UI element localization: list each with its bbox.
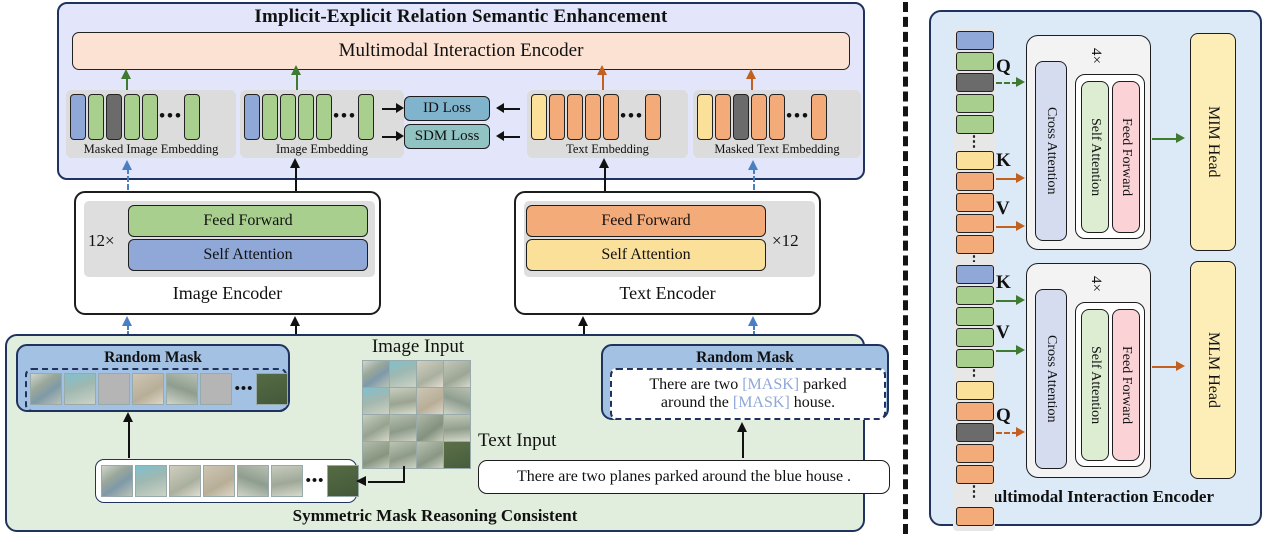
mim-feed-forward-label: Feed Forward xyxy=(1113,82,1139,232)
multimodal-interaction-encoder-bar: Multimodal Interaction Encoder xyxy=(72,32,850,70)
mim-head-label: MIM Head xyxy=(1191,34,1235,250)
sdm-loss-box: SDM Loss xyxy=(404,124,490,149)
arrow-head-up xyxy=(737,422,747,432)
arrow-line-orange xyxy=(996,226,1018,228)
text-encoder-caption: Text Encoder xyxy=(516,283,819,304)
arrow-line-green xyxy=(996,82,1018,84)
token-orange xyxy=(645,94,661,140)
token-blue xyxy=(956,265,994,284)
token-orange xyxy=(956,172,994,191)
mim-head-box: MIM Head xyxy=(1190,33,1236,251)
mlm-head-label: MLM Head xyxy=(1191,262,1235,478)
token-blue xyxy=(70,94,86,140)
masked-text-pre: around the xyxy=(661,394,733,411)
arrow-head-up xyxy=(122,316,132,326)
image-random-mask-title: Random Mask xyxy=(18,349,288,367)
arrow-head-up xyxy=(746,69,756,79)
arrow-line-green xyxy=(126,78,128,90)
image-patch xyxy=(443,414,471,442)
masked-text-line-2: around the [MASK] house. xyxy=(661,394,835,412)
image-feed-forward-block: Feed Forward xyxy=(128,205,368,237)
image-patch xyxy=(416,360,444,388)
mlm-self-attention-block: Self Attention xyxy=(1081,309,1109,461)
token-orange xyxy=(715,94,731,140)
text-self-attention-label: Self Attention xyxy=(601,246,690,264)
token-row: ••• xyxy=(697,94,827,140)
ellipsis: ••• xyxy=(787,94,809,138)
label-v: V xyxy=(996,198,1010,220)
masked-text-embedding-group: ••• Masked Text Embedding xyxy=(693,90,861,158)
token-green xyxy=(956,52,994,71)
id-loss-box: ID Loss xyxy=(404,96,490,121)
arrow-head-right xyxy=(1016,173,1025,183)
image-patch xyxy=(443,387,471,415)
token-blue xyxy=(956,31,994,50)
mim-self-attention-label: Self Attention xyxy=(1082,82,1108,232)
token-green xyxy=(358,94,374,140)
image-patch xyxy=(389,387,417,415)
arrow-line-orange xyxy=(602,74,604,90)
token-green xyxy=(280,94,296,140)
arrow-head-up xyxy=(599,158,609,168)
text-encoder-box: Feed Forward Self Attention ×12 Text Enc… xyxy=(514,191,821,315)
image-patch-masked xyxy=(200,373,232,405)
image-patch xyxy=(166,373,198,405)
image-patch xyxy=(135,465,167,497)
token-row: ••• xyxy=(70,94,200,140)
mim-ffn-group: Self Attention Feed Forward xyxy=(1075,74,1145,239)
token-row: ••• xyxy=(531,94,661,140)
token-yellow xyxy=(697,94,713,140)
mlm-feed-forward-label: Feed Forward xyxy=(1113,310,1139,460)
arrow-head-right xyxy=(1016,295,1025,305)
token-green xyxy=(316,94,332,140)
embedding-caption: Masked Text Embedding xyxy=(693,142,861,157)
token-green xyxy=(956,307,994,326)
image-embedding-group: ••• Image Embedding xyxy=(240,90,404,158)
image-patch xyxy=(203,465,235,497)
arrow-line-green xyxy=(996,300,1018,302)
arrow-head-up xyxy=(290,316,300,326)
token-orange xyxy=(956,507,994,526)
mlm-self-attention-label: Self Attention xyxy=(1082,310,1108,460)
panel-divider xyxy=(903,2,908,534)
mim-cross-attention-label: Cross Attention xyxy=(1036,62,1066,240)
masked-text-pre: There are two xyxy=(649,376,742,393)
token-orange xyxy=(956,193,994,212)
ellipsis: ••• xyxy=(234,381,254,398)
image-patch xyxy=(389,441,417,469)
mim-feed-forward-block: Feed Forward xyxy=(1112,81,1140,233)
arrow-head-left xyxy=(496,131,504,141)
mim-block-container: Cross Attention 4× Self Attention Feed F… xyxy=(1026,35,1151,250)
arrow-line xyxy=(742,430,744,458)
image-patch xyxy=(30,373,62,405)
image-patch xyxy=(327,465,359,497)
image-patch-masked xyxy=(98,373,130,405)
arrow-head-up xyxy=(123,412,133,422)
mask-token: [MASK] xyxy=(733,394,790,411)
image-patch xyxy=(362,414,390,442)
mie-bar-label: Multimodal Interaction Encoder xyxy=(339,40,584,62)
token-orange xyxy=(956,465,994,484)
arrow-line-orange xyxy=(996,178,1018,180)
embedding-caption: Image Embedding xyxy=(240,142,404,157)
text-encoder-repeat: ×12 xyxy=(772,231,818,251)
image-encoder-repeat: 12× xyxy=(88,231,128,251)
image-patch xyxy=(362,360,390,388)
token-green xyxy=(88,94,104,140)
image-self-attention-label: Self Attention xyxy=(203,246,292,264)
token-orange xyxy=(567,94,583,140)
mlm-feed-forward-block: Feed Forward xyxy=(1112,309,1140,461)
token-green xyxy=(298,94,314,140)
arrow-head-right xyxy=(1176,133,1185,143)
text-feed-forward-block: Feed Forward xyxy=(526,205,766,237)
ellipsis: ⋮ xyxy=(956,486,992,505)
label-q: Q xyxy=(996,56,1011,78)
sdm-loss-label: SDM Loss xyxy=(415,128,480,145)
arrow-line-orange xyxy=(1152,366,1178,368)
token-green xyxy=(956,328,994,347)
token-masked xyxy=(106,94,122,140)
arrow-line-orange xyxy=(996,432,1018,434)
token-blue xyxy=(244,94,260,140)
masked-patch-container: ••• xyxy=(25,368,287,412)
token-green xyxy=(956,94,994,113)
arrow-line-green xyxy=(1152,138,1178,140)
mlm-cross-attention-label: Cross Attention xyxy=(1036,290,1066,468)
arrow-line xyxy=(128,420,130,458)
token-orange xyxy=(585,94,601,140)
image-patch-strip-box: ••• xyxy=(95,459,357,503)
arrow-head-right xyxy=(1016,427,1025,437)
image-encoder-caption: Image Encoder xyxy=(76,283,379,304)
mlm-ffn-group: Self Attention Feed Forward xyxy=(1075,302,1145,467)
ellipsis: ••• xyxy=(621,94,643,138)
arrow-head-up xyxy=(748,160,758,170)
arrow-head-up xyxy=(291,65,301,75)
text-input-value: There are two planes parked around the b… xyxy=(517,468,851,486)
token-orange xyxy=(751,94,767,140)
mlm-head-box: MLM Head xyxy=(1190,261,1236,479)
token-yellow xyxy=(531,94,547,140)
arrow-head-up xyxy=(121,69,131,79)
mim-repeat-label: 4× xyxy=(1087,48,1104,73)
image-patch xyxy=(416,414,444,442)
token-green xyxy=(124,94,140,140)
text-embedding-group: ••• Text Embedding xyxy=(527,90,688,158)
token-green xyxy=(956,115,994,134)
token-yellow xyxy=(956,381,994,400)
image-patch xyxy=(443,441,471,469)
arrow-head-up xyxy=(597,65,607,75)
mim-self-attention-block: Self Attention xyxy=(1081,81,1109,233)
token-green xyxy=(956,286,994,305)
image-random-mask-box: Random Mask ••• xyxy=(16,344,290,412)
image-patch xyxy=(362,387,390,415)
arrow-head-right xyxy=(1176,361,1185,371)
image-patch xyxy=(256,373,288,405)
image-patch xyxy=(237,465,269,497)
mlm-cross-attention-block: Cross Attention xyxy=(1035,289,1067,469)
arrow-head-up xyxy=(290,158,300,168)
mlm-repeat-label: 4× xyxy=(1087,276,1104,301)
arrow-head-up xyxy=(748,316,758,326)
image-patch xyxy=(271,465,303,497)
id-loss-label: ID Loss xyxy=(423,100,471,117)
label-q: Q xyxy=(996,405,1011,427)
mim-cross-attention-block: Cross Attention xyxy=(1035,61,1067,241)
token-orange xyxy=(603,94,619,140)
label-v: V xyxy=(996,322,1010,344)
embedding-caption: Text Embedding xyxy=(527,142,688,157)
ellipsis: ••• xyxy=(305,473,325,490)
image-encoder-box: 12× Feed Forward Self Attention Image En… xyxy=(74,191,381,315)
image-patch xyxy=(443,360,471,388)
arrow-head-left xyxy=(356,476,366,486)
symmetric-mask-title: Symmetric Mask Reasoning Consistent xyxy=(5,506,865,528)
arrow-line-dashed xyxy=(753,168,755,190)
masked-text-post: house. xyxy=(790,394,835,411)
token-green xyxy=(184,94,200,140)
image-input-grid xyxy=(362,360,470,466)
token-green xyxy=(956,349,994,368)
label-k: K xyxy=(996,272,1011,294)
image-self-attention-block: Self Attention xyxy=(128,239,368,271)
arrow-line-orange xyxy=(751,78,753,90)
arrow-head-right xyxy=(1016,221,1025,231)
arrow-line-green xyxy=(996,350,1018,352)
image-patch xyxy=(416,387,444,415)
token-green xyxy=(142,94,158,140)
masked-text-line-1: There are two [MASK] parked xyxy=(649,376,846,394)
mask-token: [MASK] xyxy=(742,376,799,393)
image-patch xyxy=(389,360,417,388)
arrow-line-dashed xyxy=(127,168,129,190)
token-masked xyxy=(956,73,994,92)
masked-text-post: parked xyxy=(799,376,847,393)
masked-text-container: There are two [MASK] parked around the [… xyxy=(610,368,886,420)
token-orange xyxy=(956,402,994,421)
text-random-mask-box: Random Mask There are two [MASK] parked … xyxy=(601,344,889,420)
image-feed-forward-label: Feed Forward xyxy=(203,212,292,230)
image-patch xyxy=(169,465,201,497)
token-orange xyxy=(549,94,565,140)
arrow-line xyxy=(368,481,405,483)
ellipsis: ••• xyxy=(334,94,356,138)
token-row: ••• xyxy=(244,94,374,140)
mlm-query-token-column: ⋮ xyxy=(953,378,995,531)
text-input-box[interactable]: There are two planes parked around the b… xyxy=(478,460,890,494)
label-k: K xyxy=(996,150,1011,172)
arrow-head-left xyxy=(496,103,504,113)
text-feed-forward-label: Feed Forward xyxy=(601,212,690,230)
token-green xyxy=(262,94,278,140)
image-patch xyxy=(389,414,417,442)
masked-image-embedding-group: ••• Masked Image Embedding xyxy=(66,90,236,158)
text-self-attention-block: Self Attention xyxy=(526,239,766,271)
token-masked xyxy=(733,94,749,140)
image-patch xyxy=(416,441,444,469)
arrow-head-right xyxy=(1016,77,1025,87)
arrow-head-right xyxy=(1016,345,1025,355)
token-orange xyxy=(811,94,827,140)
text-random-mask-title: Random Mask xyxy=(603,349,887,367)
image-patch xyxy=(132,373,164,405)
arrow-head-right xyxy=(396,103,404,113)
image-input-label: Image Input xyxy=(338,336,498,358)
image-patch xyxy=(64,373,96,405)
image-patch xyxy=(362,441,390,469)
arrow-line-green xyxy=(296,74,298,90)
image-patch xyxy=(101,465,133,497)
token-masked xyxy=(956,423,994,442)
token-orange xyxy=(956,444,994,463)
arrow-head-right xyxy=(396,131,404,141)
embedding-caption: Masked Image Embedding xyxy=(66,142,236,157)
token-orange xyxy=(769,94,785,140)
token-orange xyxy=(956,235,994,254)
text-input-label: Text Input xyxy=(478,430,588,452)
ellipsis: ••• xyxy=(160,94,182,138)
mlm-block-container: Cross Attention 4× Self Attention Feed F… xyxy=(1026,263,1151,478)
arrow-head-up xyxy=(578,316,588,326)
page-title: Implicit-Explicit Relation Semantic Enha… xyxy=(57,6,865,30)
token-orange xyxy=(956,214,994,233)
token-yellow xyxy=(956,151,994,170)
arrow-head-up xyxy=(122,160,132,170)
arrow-line xyxy=(403,466,405,482)
